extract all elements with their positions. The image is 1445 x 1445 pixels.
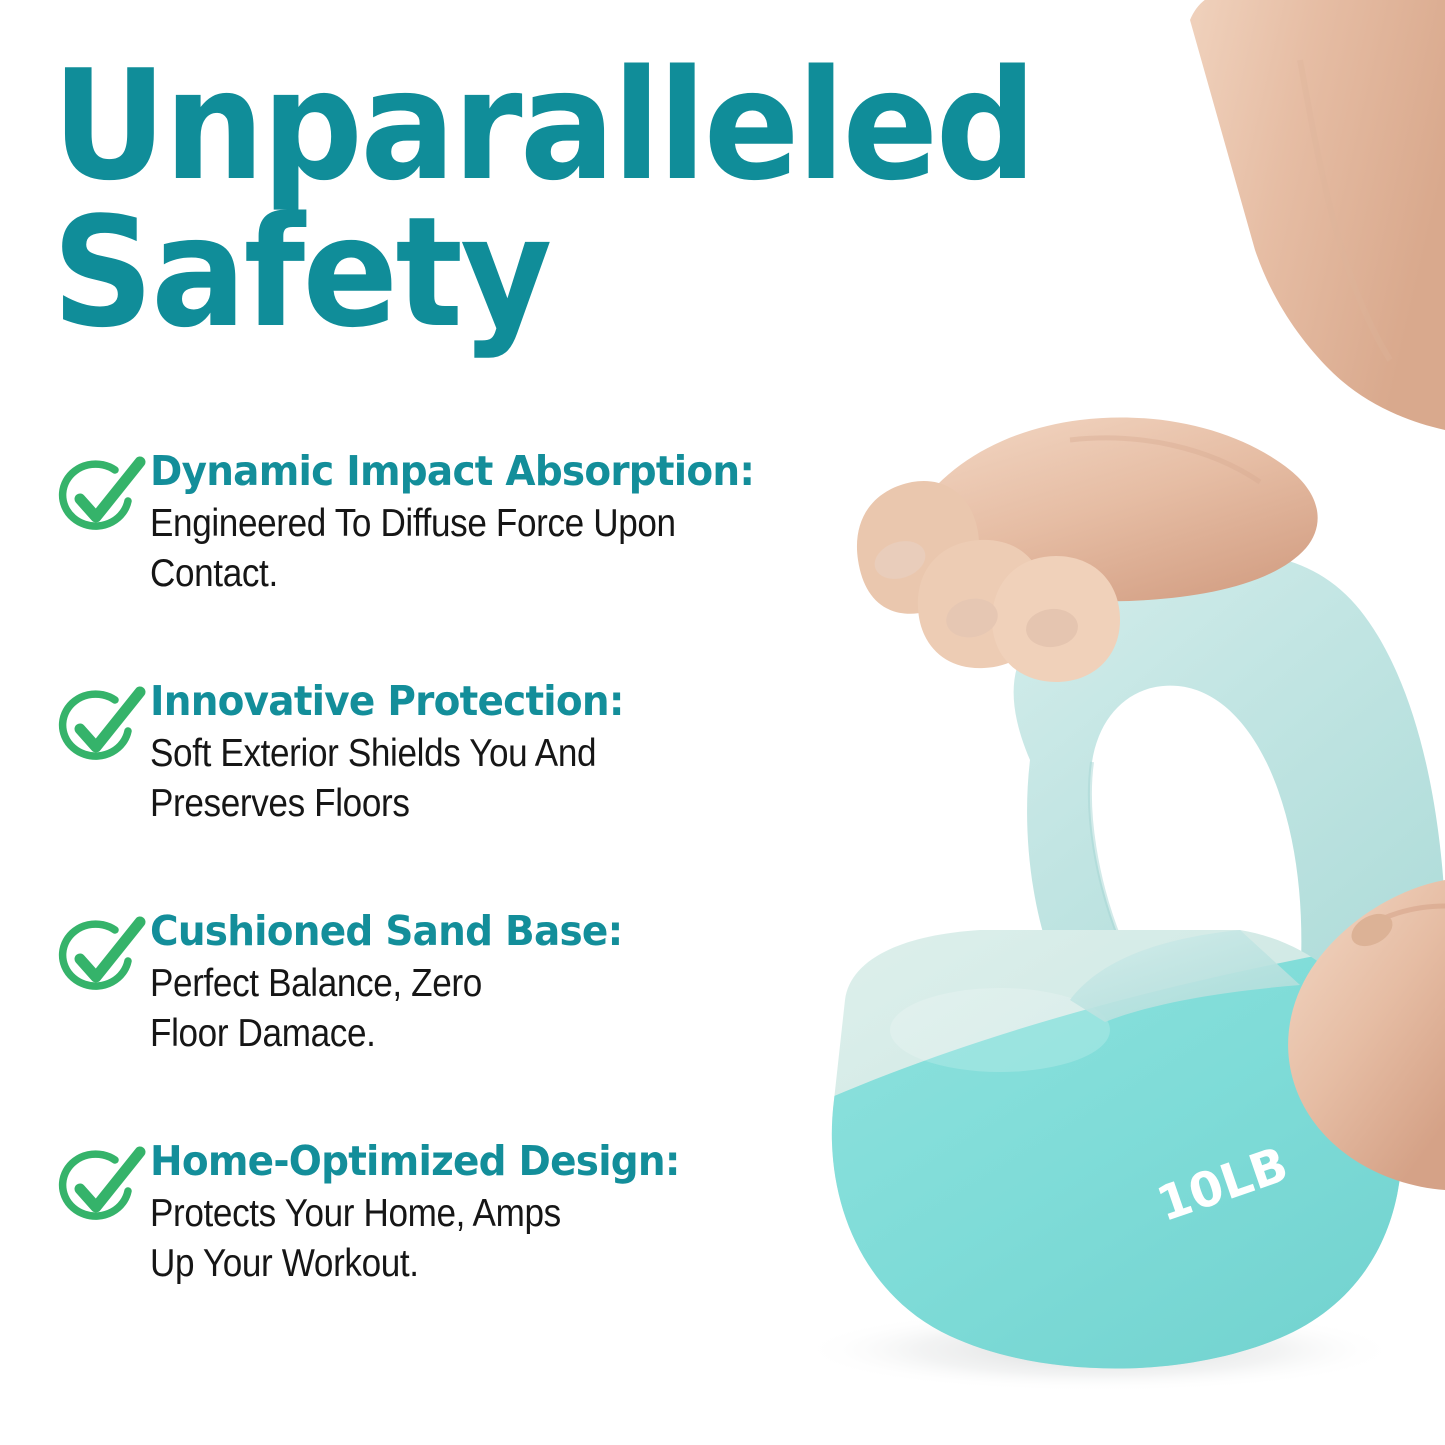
forearm bbox=[1190, 0, 1445, 430]
feature-text-block: Innovative Protection: Soft Exterior Shi… bbox=[150, 678, 930, 829]
feature-body: Protects Your Home, Amps Up Your Workout… bbox=[150, 1189, 852, 1289]
feature-item-innovative-protection: Innovative Protection: Soft Exterior Shi… bbox=[48, 682, 928, 912]
feature-list: Dynamic Impact Absorption: Engineered To… bbox=[48, 452, 928, 1372]
feature-item-dynamic-impact-absorption: Dynamic Impact Absorption: Engineered To… bbox=[48, 452, 928, 682]
feature-text-block: Cushioned Sand Base: Perfect Balance, Ze… bbox=[150, 908, 930, 1059]
feature-text-block: Home-Optimized Design: Protects Your Hom… bbox=[150, 1138, 930, 1289]
feature-body: Perfect Balance, Zero Floor Damace. bbox=[150, 959, 852, 1059]
feature-body: Soft Exterior Shields You And Preserves … bbox=[150, 729, 852, 829]
check-circle-icon bbox=[52, 1144, 148, 1232]
feature-title: Innovative Protection: bbox=[150, 678, 891, 725]
feature-title: Dynamic Impact Absorption: bbox=[150, 448, 891, 495]
feature-body: Engineered To Diffuse Force Upon Contact… bbox=[150, 499, 852, 599]
check-circle-icon bbox=[52, 454, 148, 542]
page-title: Unparalleled Safety bbox=[52, 52, 1038, 347]
check-circle-icon bbox=[52, 914, 148, 1002]
check-circle-icon bbox=[52, 684, 148, 772]
feature-title: Home-Optimized Design: bbox=[150, 1138, 891, 1185]
infographic-canvas: 10LB Unparalleled Safety Dynamic Impact … bbox=[0, 0, 1445, 1445]
feature-title: Cushioned Sand Base: bbox=[150, 908, 891, 955]
feature-text-block: Dynamic Impact Absorption: Engineered To… bbox=[150, 448, 930, 599]
feature-item-cushioned-sand-base: Cushioned Sand Base: Perfect Balance, Ze… bbox=[48, 912, 928, 1142]
feature-item-home-optimized-design: Home-Optimized Design: Protects Your Hom… bbox=[48, 1142, 928, 1372]
